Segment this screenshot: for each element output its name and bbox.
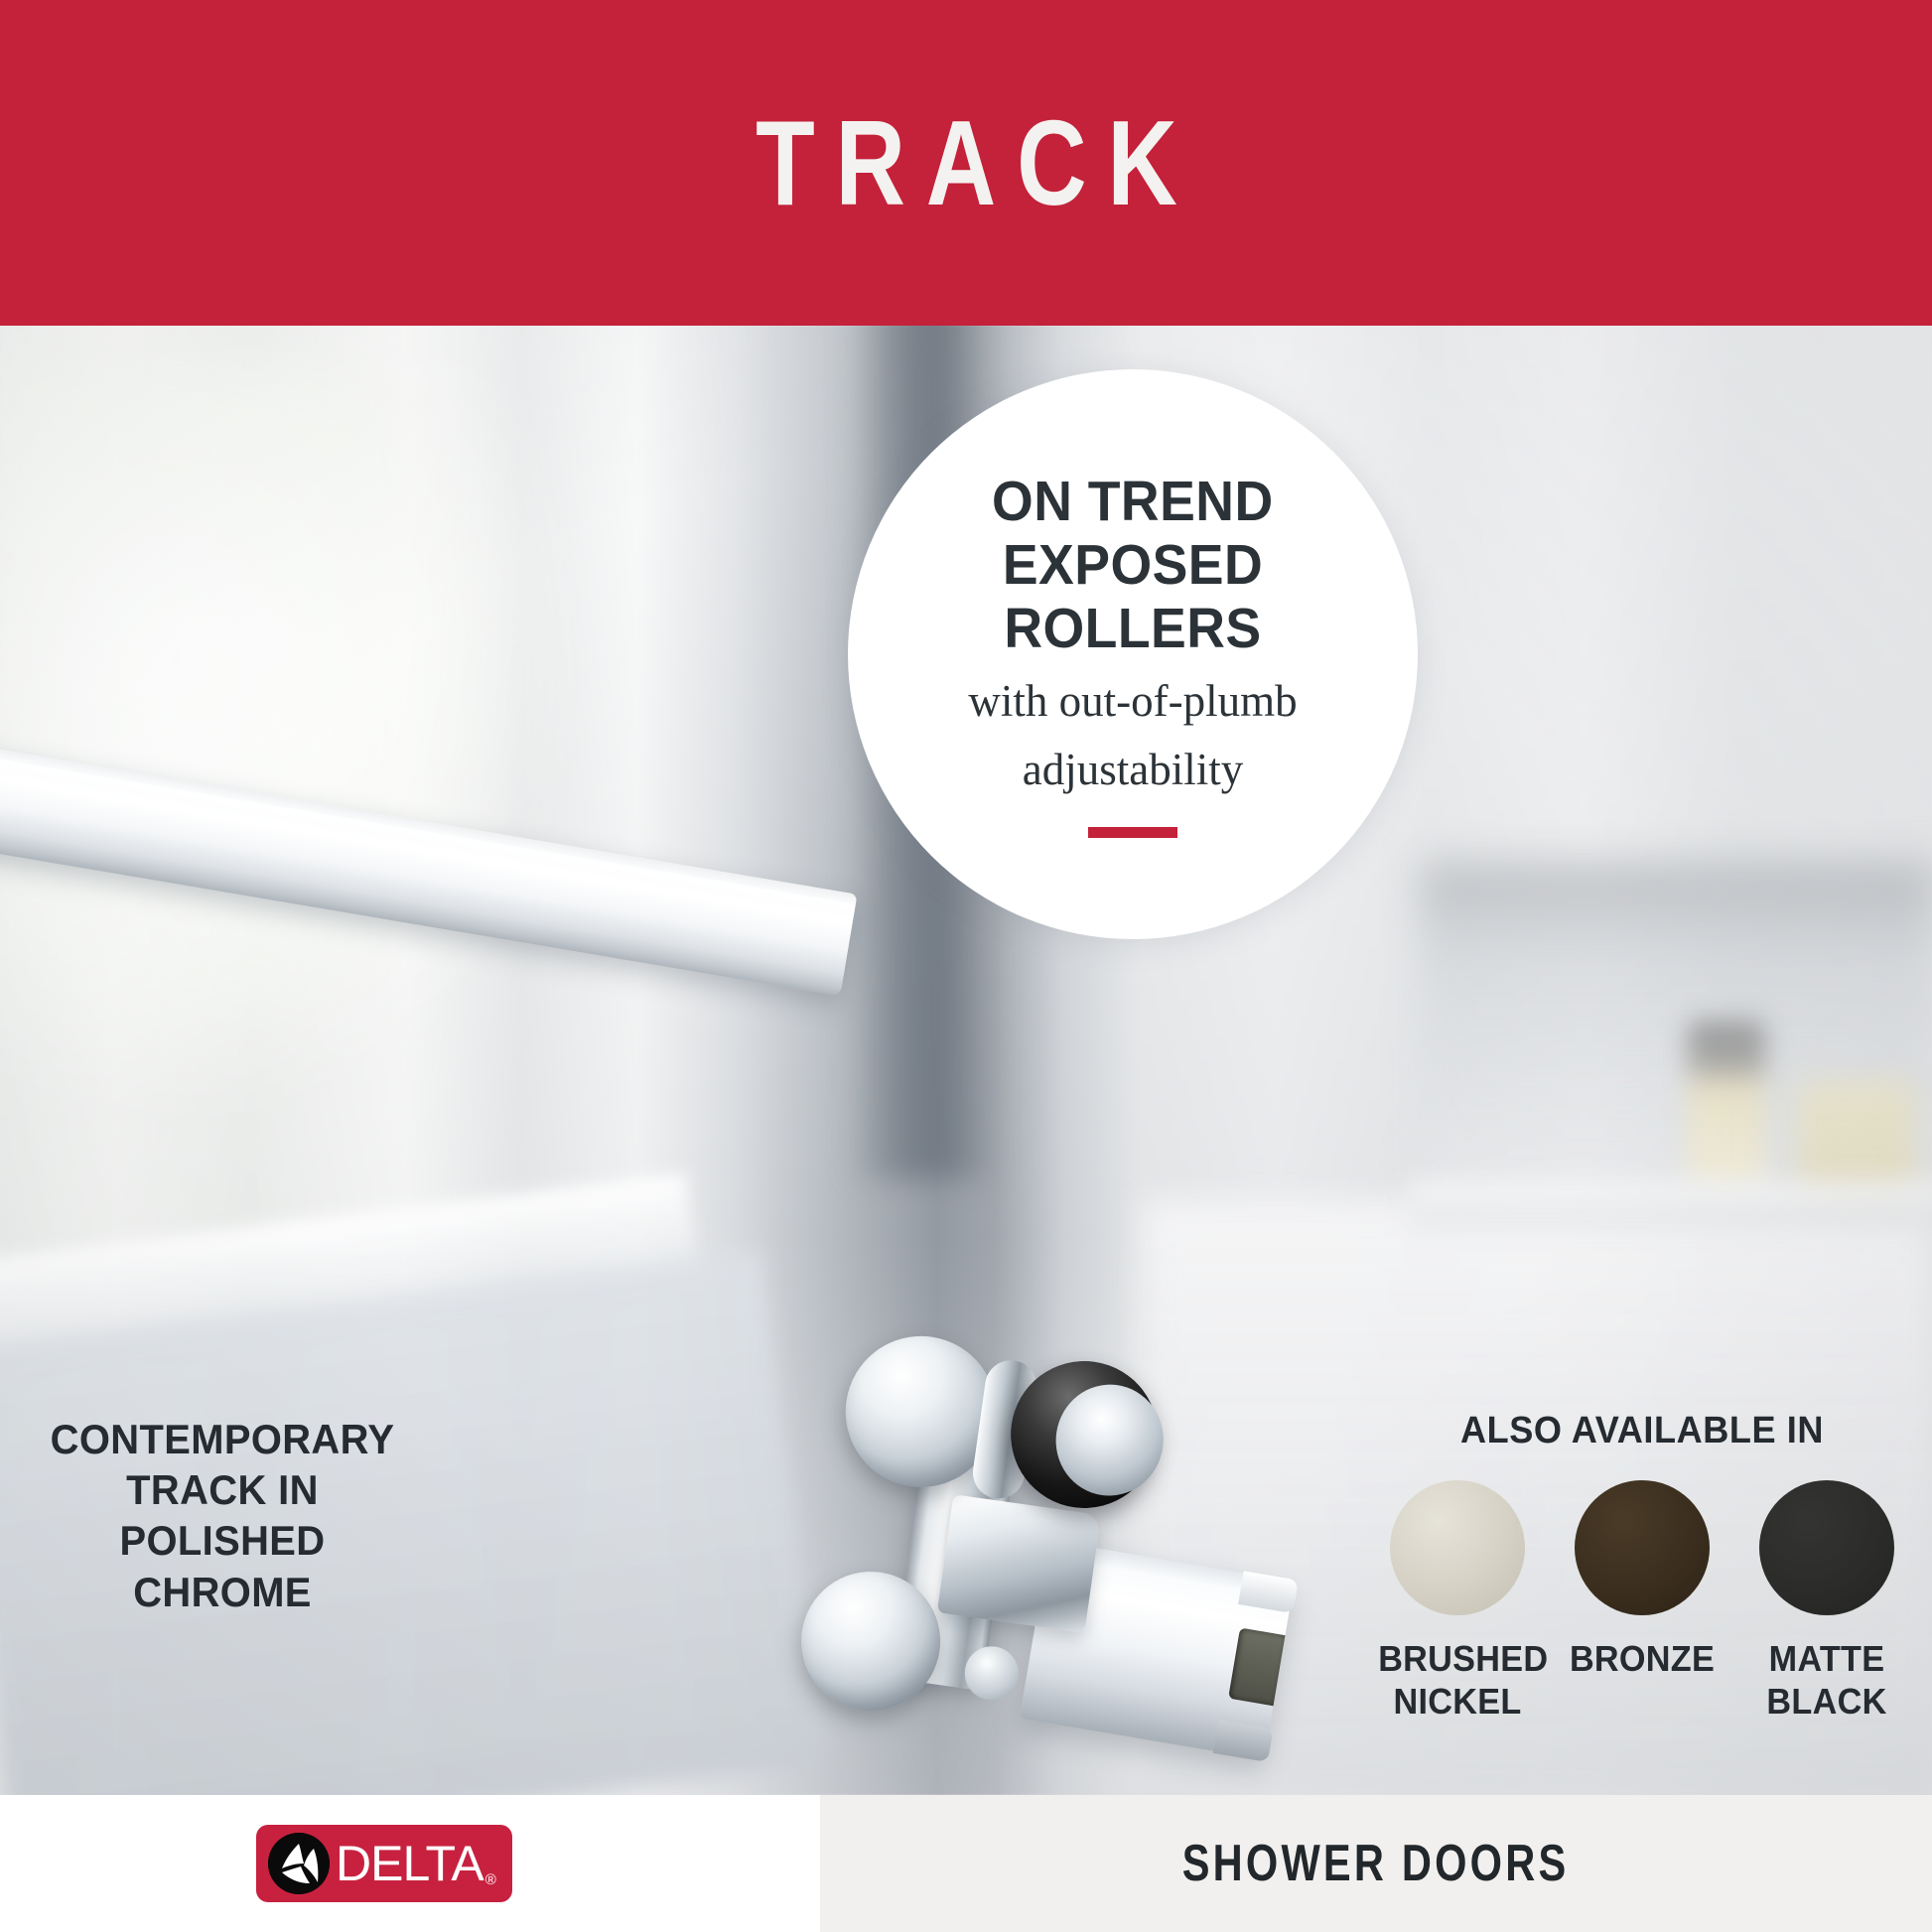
carriage-arm xyxy=(937,1494,1101,1633)
callout-subtext-line-1: with out-of-plumb xyxy=(968,674,1297,729)
footer-category-label: SHOWER DOORS xyxy=(1182,1834,1570,1893)
feature-callout-circle: ON TREND EXPOSED ROLLERS with out-of-plu… xyxy=(848,369,1418,939)
finish-caption: CONTEMPORARY TRACK IN POLISHED CHROME xyxy=(32,1414,413,1617)
track-channel-top-lip xyxy=(1238,1571,1299,1613)
available-finishes-heading: ALSO AVAILABLE IN xyxy=(1388,1410,1897,1452)
footer-category-panel: SHOWER DOORS xyxy=(820,1795,1932,1932)
delta-logo[interactable]: DELTA ® xyxy=(256,1825,512,1902)
finish-swatch-row: BRUSHED NICKEL BRONZE MATTE BLACK xyxy=(1374,1480,1910,1723)
marketing-card: TRACK xyxy=(0,0,1932,1932)
swatch-dot-matte-black xyxy=(1759,1480,1894,1615)
footer-bar: DELTA ® SHOWER DOORS xyxy=(0,1795,1932,1932)
available-finishes-block: ALSO AVAILABLE IN BRUSHED NICKEL BRONZE … xyxy=(1374,1410,1910,1723)
track-channel-opening xyxy=(1228,1627,1285,1706)
swatch-dot-brushed-nickel xyxy=(1390,1480,1525,1615)
footer-brand-panel: DELTA ® xyxy=(0,1795,820,1932)
callout-subtext-line-2: adjustability xyxy=(1023,743,1243,797)
callout-divider-dash xyxy=(1088,827,1177,838)
callout-headline-line-1: ON TREND xyxy=(992,471,1274,534)
shower-door-track-bar xyxy=(0,716,858,997)
finish-option-bronze[interactable]: BRONZE xyxy=(1559,1480,1725,1680)
delta-wordmark: DELTA xyxy=(336,1839,483,1888)
page-title: TRACK xyxy=(735,102,1197,223)
swatch-dot-bronze xyxy=(1575,1480,1710,1615)
product-photo-stage: ON TREND EXPOSED ROLLERS with out-of-plu… xyxy=(0,326,1932,1795)
swatch-label-brushed-nickel: BRUSHED NICKEL xyxy=(1378,1637,1537,1723)
registered-trademark-mark: ® xyxy=(485,1871,496,1888)
finish-option-matte-black[interactable]: MATTE BLACK xyxy=(1743,1480,1910,1723)
finish-option-brushed-nickel[interactable]: BRUSHED NICKEL xyxy=(1374,1480,1541,1723)
track-channel-bottom-lip xyxy=(1213,1720,1274,1762)
header-banner: TRACK xyxy=(0,0,1932,326)
swatch-label-bronze: BRONZE xyxy=(1563,1637,1722,1680)
delta-triangle-icon xyxy=(268,1833,330,1894)
swatch-label-matte-black: MATTE BLACK xyxy=(1747,1637,1906,1723)
callout-headline-line-2: EXPOSED ROLLERS xyxy=(907,534,1357,661)
